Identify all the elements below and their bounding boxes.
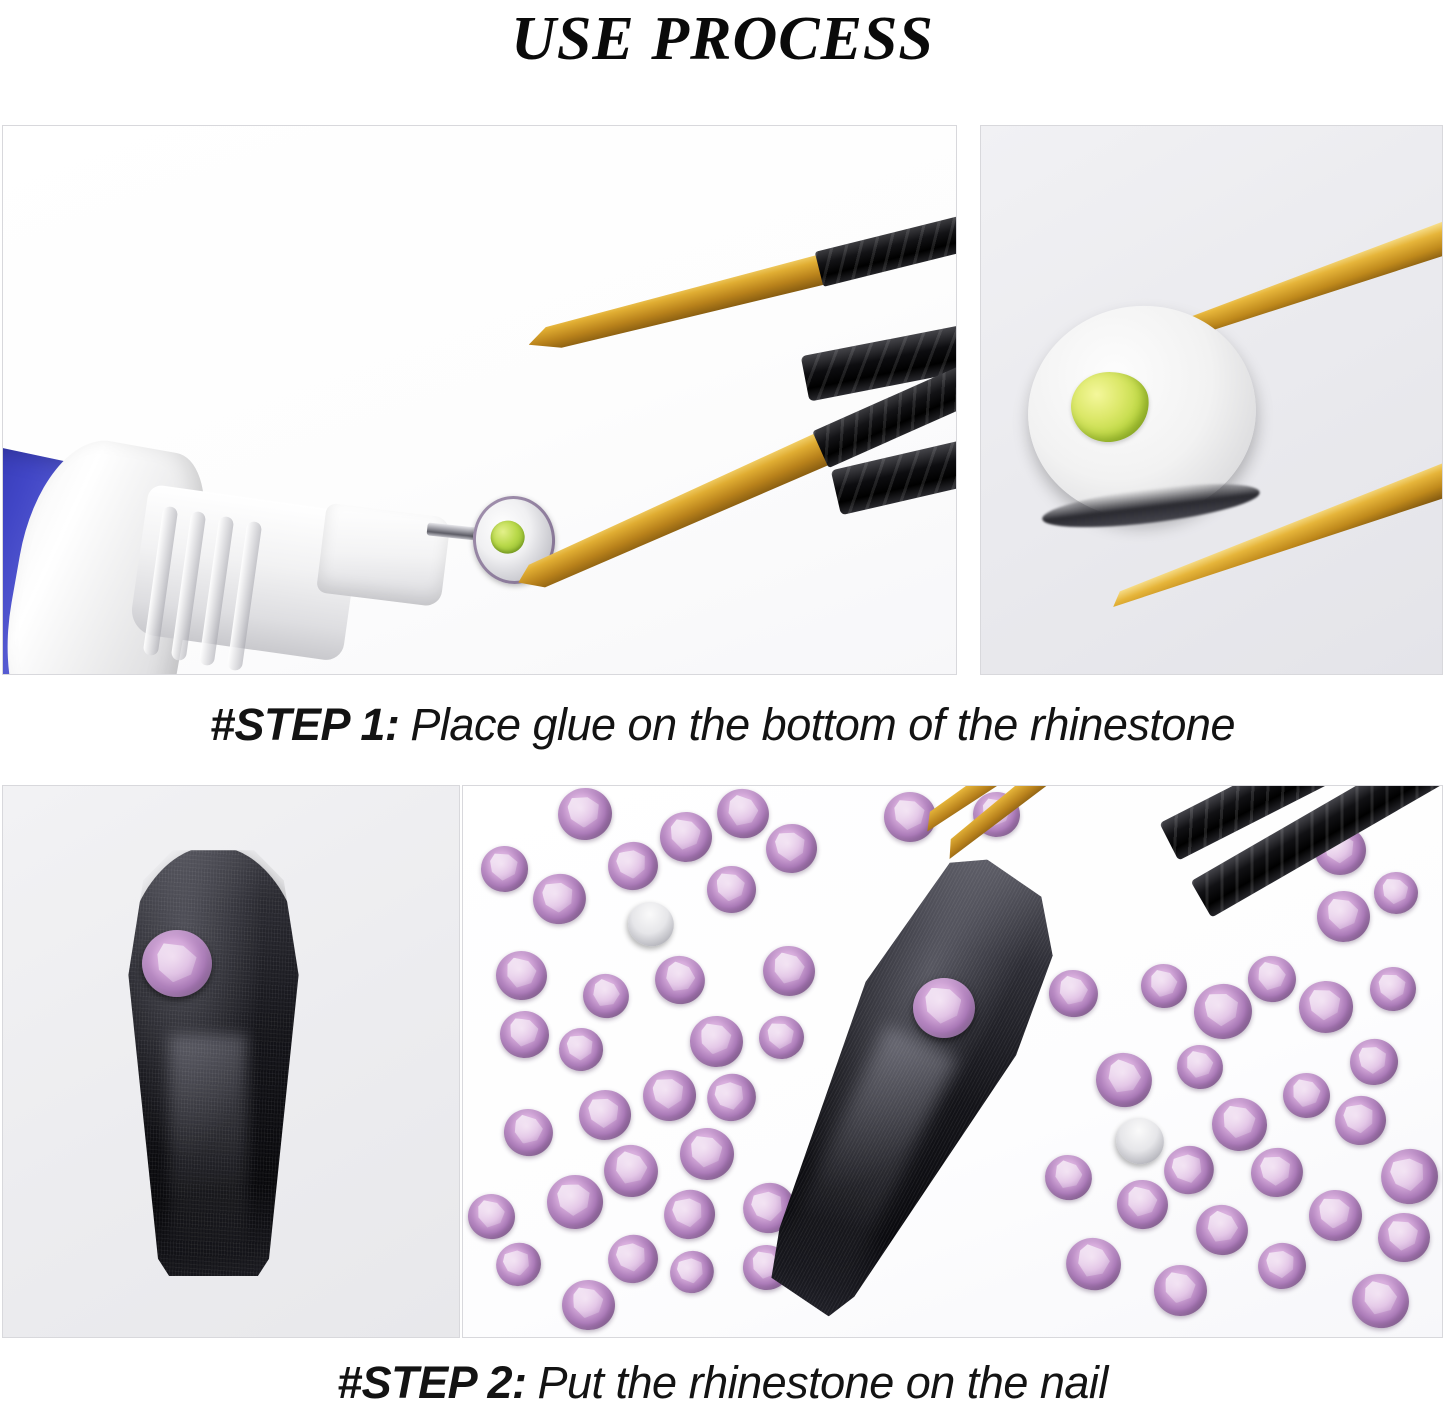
use-process-infographic: USE PROCESS	[0, 0, 1445, 1412]
step2-photo-placing-rhinestone-on-nail	[462, 785, 1443, 1338]
step1-label: #STEP 1:	[210, 699, 399, 751]
step1-caption: #STEP 1: Place glue on the bottom of the…	[0, 686, 1445, 764]
step2-text: Put the rhinestone on the nail	[537, 1357, 1107, 1409]
rhinestone-on-finished-nail	[142, 930, 212, 997]
step1-photo-glue-applied-to-rhinestone	[2, 125, 957, 675]
rhinestone	[1316, 890, 1370, 942]
page-title: USE PROCESS	[0, 0, 1445, 78]
step2-photo-finished-nail-with-rhinestone	[2, 785, 460, 1338]
step2-caption: #STEP 2: Put the rhinestone on the nail	[0, 1344, 1445, 1422]
rhinestone	[884, 791, 937, 841]
step1-text: Place glue on the bottom of the rhinesto…	[410, 699, 1235, 751]
rhinestone-facet-highlight	[157, 943, 196, 982]
glue-drop-icon	[1067, 367, 1153, 446]
step2-label: #STEP 2:	[337, 1357, 526, 1409]
rhinestone	[1377, 1212, 1430, 1263]
step1-photo-rhinestone-glue-closeup	[980, 125, 1443, 675]
glue-bottle-tip-icon	[316, 503, 451, 608]
rhinestone-being-placed	[913, 978, 975, 1038]
nail-highlight	[169, 1035, 247, 1259]
rhinestone	[707, 866, 756, 913]
